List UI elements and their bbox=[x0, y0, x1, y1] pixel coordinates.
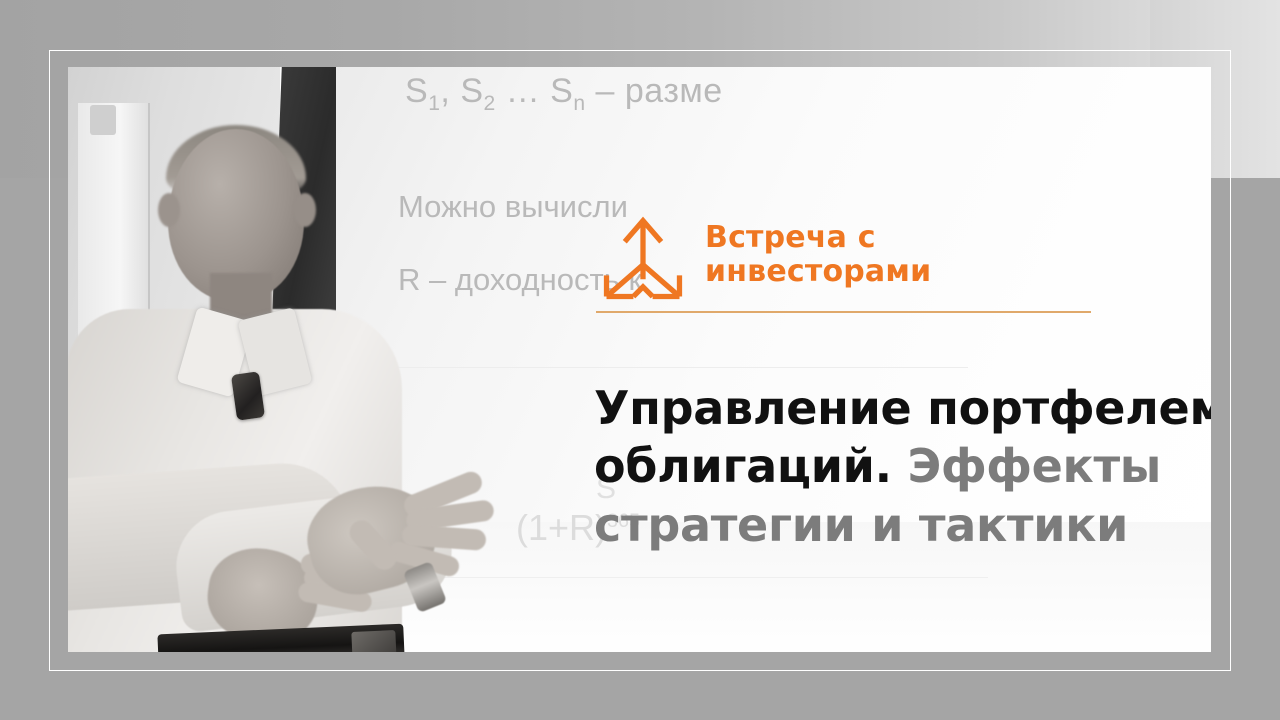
headline-line-2-gray: Эффекты bbox=[892, 439, 1161, 493]
photo-scene: S1, S2 … Sn – разме Можно вычисли R – до… bbox=[68, 67, 1211, 652]
headline-block: Управление портфелем облигаций. Эффекты … bbox=[594, 379, 1211, 554]
headline-line-2-dark: облигаций. bbox=[594, 439, 892, 493]
brand-title: Встреча с инвесторами bbox=[705, 221, 931, 289]
presenter-ear-right bbox=[294, 193, 316, 227]
presenter-belt-buckle bbox=[351, 630, 396, 652]
brand-underline bbox=[596, 311, 1091, 313]
presenter-figure bbox=[68, 97, 508, 652]
photo-card: S1, S2 … Sn – разме Можно вычисли R – до… bbox=[68, 67, 1211, 652]
brand-lockup: Встреча с инвесторами bbox=[595, 212, 1095, 320]
headline-line-1: Управление портфелем bbox=[594, 379, 1211, 437]
tri-arrow-logo-icon bbox=[595, 212, 691, 308]
headline-line-3: стратегии и тактики bbox=[594, 496, 1211, 554]
headline-line-2: облигаций. Эффекты bbox=[594, 437, 1211, 495]
presenter-ear-left bbox=[158, 193, 180, 227]
